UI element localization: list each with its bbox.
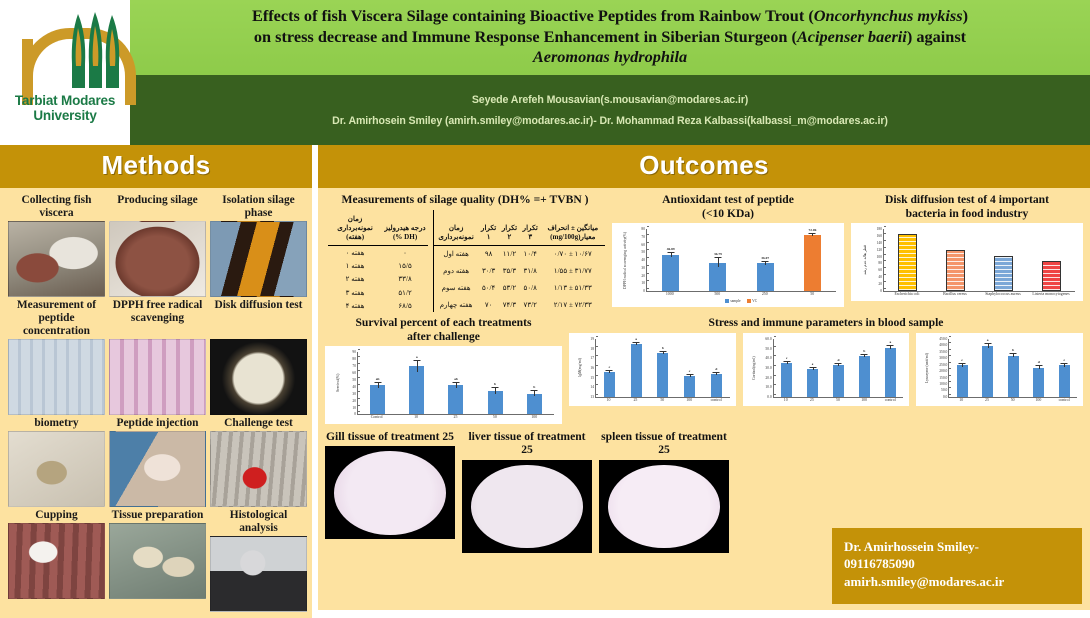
table-column-header: تکرار ۲ (499, 210, 520, 246)
y-axis-label: Lysozyme (unit/ml) (925, 339, 929, 397)
legend-swatch (747, 299, 751, 303)
bar-value-label: a (987, 338, 989, 342)
x-axis-tick: 10 (948, 398, 974, 403)
outcomes-row-2: Survival percent of each treatments afte… (325, 316, 1083, 424)
error-bar-cap (713, 372, 720, 373)
table-cell: ۵۰/۴ (478, 279, 499, 296)
error-bar-cap (452, 382, 459, 383)
chart-bar (488, 391, 503, 414)
y-axis-tick: 300.0 (939, 356, 949, 360)
error-bar (716, 373, 717, 375)
bar-value-label: a (889, 340, 891, 344)
error-bar (1064, 364, 1065, 368)
igm-parameter-plot-area: 13141516171819IgM(mg/ml)cabcd102550100co… (575, 339, 730, 403)
bar-value-label: e (812, 362, 814, 366)
table-row: ۶۸/۵هفته ۴ (328, 299, 428, 312)
tissue-prep-photo (109, 523, 206, 599)
logo-line-1: Tarbiat Modares (0, 94, 130, 109)
silage-tube-photo (210, 221, 307, 297)
error-bar (456, 383, 457, 389)
x-axis-tick: 500 (694, 292, 742, 297)
chart-bar-group (1042, 229, 1061, 291)
chart-bar-group: 36.79 (709, 229, 726, 291)
y-axis-label: Servival(%) (336, 352, 340, 414)
y-axis-tick: 160 (877, 234, 884, 238)
method-label: biometry (34, 417, 78, 430)
error-bar-cap (667, 252, 674, 253)
error-bar-cap (835, 363, 842, 364)
tissue-label: liver tissue of treatment 25 (462, 430, 592, 457)
table-cell: ۷۲/۳۳ ± ۲/۱۷ (541, 296, 605, 313)
antioxidant-title-line-2: (<10 KDa) (612, 207, 844, 221)
x-axis-tick: control (877, 398, 903, 403)
error-bar-cap (606, 370, 613, 371)
chart-bar (711, 374, 722, 397)
table-cell: ۱۰/۴ (520, 245, 541, 262)
error-bar (988, 344, 989, 347)
bar-value-label: c (689, 369, 691, 373)
chart-bar-group: a (631, 339, 642, 397)
tissue-panel: liver tissue of treatment 25 (462, 430, 592, 553)
spleen-histology-photo (599, 460, 729, 553)
error-bar (663, 352, 664, 354)
chart-bar (370, 385, 385, 414)
table-cell: هفته ۱ (328, 259, 382, 272)
y-axis-tick: 100.0 (939, 382, 949, 386)
logo-tulip-icon (64, 12, 126, 94)
chart-bar-group: d (711, 339, 722, 397)
x-axis-tick: 50 (825, 398, 851, 403)
table-cell: ۷۴/۳ (499, 296, 520, 313)
chart-bar (994, 256, 1013, 291)
y-axis-tick: 30.0 (765, 366, 773, 370)
outcomes-row-1: Measurements of silage quality (DH% =+ T… (325, 193, 1083, 312)
y-axis-tick: 140 (877, 241, 884, 245)
x-axis-tick: 100 (1026, 398, 1052, 403)
bar-value-label: ab (454, 377, 458, 381)
chart-bar-group: ab (448, 352, 463, 414)
stress-immune-panel: Stress and immune parameters in blood sa… (569, 316, 1083, 424)
error-bar (838, 364, 839, 367)
poster-header: Tarbiat Modares University Effects of fi… (0, 0, 1090, 145)
chart-bar (885, 348, 896, 397)
error-bar-cap (861, 354, 868, 355)
dpph-plate-photo (109, 339, 206, 415)
university-logo: Tarbiat Modares University (0, 0, 130, 145)
x-axis-tick: 25 (622, 398, 649, 403)
disk-diffusion-chart: 020406080100120140160180قطر هاله عدم رشد… (851, 223, 1083, 301)
chart-bar (527, 394, 542, 415)
bar-value-label: d (1038, 360, 1040, 364)
chart-bar-group: c (781, 339, 792, 397)
table-header-row: میانگین ± انحراف معیار(mg/100g)تکرار ۳تک… (434, 210, 606, 246)
table-column-header: درجه هیدرولیز (DH %) (382, 210, 428, 246)
x-axis-tick: 25 (974, 398, 1000, 403)
x-axis-tick: 250 (741, 292, 789, 297)
error-bar-cap (1035, 365, 1042, 366)
method-label: Measurement of peptide concentration (8, 299, 105, 338)
bar-value-label: c (1063, 358, 1065, 362)
error-bar-cap (633, 342, 640, 343)
error-bar-cap (783, 361, 790, 362)
poster-title: Effects of fish Viscera Silage containin… (130, 0, 1090, 75)
table-cell: ۵۰/۸ (520, 279, 541, 296)
y-axis-tick: 120 (877, 248, 884, 252)
y-axis-tick: 10.0 (765, 385, 773, 389)
method-label: Collecting fish viscera (8, 194, 105, 220)
error-bar-cap (686, 374, 693, 375)
chart-bar-group (898, 229, 917, 291)
table-cell: هفته دوم (434, 262, 479, 279)
error-bar-cap (492, 387, 499, 388)
table-cell: هفته ۴ (328, 299, 382, 312)
chart-bar-group: a (409, 352, 424, 414)
author-line-1: Seyede Arefeh Mousavian(s.mousavian@moda… (140, 90, 1080, 111)
table-row: ۳۱/۷۷ ± ۱/۵۵۳۱/۸۳۵/۳۳۰/۳هفته دوم (434, 262, 606, 279)
legend-label: sample (730, 299, 740, 303)
y-axis-tick: 350.0 (939, 350, 949, 354)
challenge-bench-photo (210, 431, 307, 507)
cortisol-parameter-plot-area: 0.010.020.030.040.050.060.0Cortisol(ng/m… (749, 339, 904, 403)
diskdiff-title-line-1: Disk diffusion test of 4 important (851, 193, 1083, 207)
y-axis-label: IgM(mg/ml) (578, 339, 582, 397)
methods-column: Methods Collecting fish viscera Producin… (0, 145, 312, 610)
chart-bar (757, 263, 774, 291)
logo-line-2: University (0, 109, 130, 124)
method-item: Measurement of peptide concentration (8, 299, 105, 415)
lysozyme-chart: 0.050.0100.0150.0200.0250.0300.0350.0400… (916, 333, 1083, 407)
bar-value-label: a (635, 337, 637, 341)
bar-value-label: b (863, 349, 865, 353)
survival-chart-panel: Survival percent of each treatments afte… (325, 316, 562, 424)
tissue-label: Gill tissue of treatment 25 (325, 430, 455, 444)
table-cell: هفته چهارم (434, 296, 479, 313)
y-axis-tick: 100 (877, 255, 884, 259)
legend-swatch (725, 299, 729, 303)
table-cell: ۷۰ (478, 296, 499, 313)
chart-bar (957, 365, 968, 397)
error-bar-cap (762, 261, 769, 262)
bar-value-label: b (662, 346, 664, 350)
x-axis-tick: 25 (436, 415, 475, 420)
table-cell: هفته سوم (434, 279, 479, 296)
table-row: ۵۱/۲هفته ۳ (328, 286, 428, 299)
y-axis-tick: 60.0 (765, 337, 773, 341)
bar-value-label: ab (376, 377, 380, 381)
chart-bar-group: a (982, 339, 993, 397)
error-bar (1039, 366, 1040, 369)
x-axis-tick: 50 (1000, 398, 1026, 403)
y-axis-label: قطر هاله عدم رشد (862, 229, 867, 291)
error-bar (534, 391, 535, 397)
chart-bar (657, 353, 668, 397)
table-cell: ۳۱/۸ (520, 262, 541, 279)
table-cell: هفته ۲ (328, 272, 382, 285)
chart-bar-group: b (527, 352, 542, 414)
x-axis-tick: control (1051, 398, 1077, 403)
bar-value-label: c (786, 356, 788, 360)
table-row: ۰هفته ۰ (328, 245, 428, 259)
x-axis-tick: Listeria monocytogenes (1027, 292, 1075, 297)
biometry-photo (8, 431, 105, 507)
chart-bar-group: b (488, 352, 503, 414)
method-item: Producing silage (109, 194, 206, 297)
x-axis-tick: 50 (649, 398, 676, 403)
y-axis-tick: 150.0 (939, 376, 949, 380)
stress-immune-title: Stress and immune parameters in blood sa… (569, 316, 1083, 330)
chart-bar (1042, 261, 1061, 291)
chart-bar-group (946, 229, 965, 291)
chart-bar (604, 372, 615, 397)
chart-bar (859, 356, 870, 397)
method-label: Cupping (35, 509, 77, 522)
chart-bar-group: d (833, 339, 844, 397)
survival-chart: 0102030405060708090Servival(%)abaabbbCon… (325, 346, 562, 424)
gill-histology-photo (325, 446, 455, 539)
chart-bar-group: 36.07 (757, 229, 774, 291)
table-header-row: درجه هیدرولیز (DH %)زمان نمونه‌برداری (ه… (328, 210, 428, 246)
methods-heading: Methods (0, 145, 312, 188)
error-bar (417, 361, 418, 372)
table-cell: ۵۱/۲ (382, 286, 428, 299)
y-axis-tick: 50.0 (765, 347, 773, 351)
table-cell: هفته اول (434, 245, 479, 262)
table-column-header: تکرار ۱ (478, 210, 499, 246)
table-column-header: زمان نمونه‌برداری (434, 210, 479, 246)
chart-bar (898, 234, 917, 291)
table-row: ۵۱/۳۳ ± ۱/۱۳۵۰/۸۵۳/۲۵۰/۴هفته سوم (434, 279, 606, 296)
error-bar-cap (1010, 353, 1017, 354)
bar-value-label: c (609, 365, 611, 369)
y-axis-tick: 50.0 (941, 388, 949, 392)
chart-bar-group: c (604, 339, 615, 397)
title-line-3: Aeromonas hydrophila (140, 47, 1080, 68)
liver-histology-photo (462, 460, 592, 553)
chart-bar (781, 363, 792, 397)
contact-line-3: amirh.smiley@modares.ac.ir (844, 573, 1070, 591)
x-axis-tick: 100 (676, 398, 703, 403)
error-bar (765, 262, 766, 265)
error-bar (864, 355, 865, 357)
fish-viscera-photo (8, 221, 105, 297)
survival-percent-plot-area: 0102030405060708090Servival(%)abaabbbCon… (333, 352, 554, 420)
y-axis-tick: 400.0 (939, 343, 949, 347)
chart-bar-group: 72.06 (804, 229, 821, 291)
x-axis-tick: control (703, 398, 730, 403)
error-bar-cap (959, 363, 966, 364)
chart-bar-group: c (1059, 339, 1070, 397)
silage-table-title: Measurements of silage quality (DH% =+ T… (325, 193, 605, 207)
survival-title-line-2: after challenge (325, 330, 562, 344)
silage-quality-table-panel: Measurements of silage quality (DH% =+ T… (325, 193, 605, 312)
antioxidant-chart: 01020304050607080DPPH radical scavenging… (612, 223, 844, 307)
method-item: Collecting fish viscera (8, 194, 105, 297)
chart-bar (804, 235, 821, 291)
chart-bar-group: b (1008, 339, 1019, 397)
method-label: Isolation silage phase (210, 194, 307, 220)
y-axis-tick: 180 (877, 227, 884, 231)
error-bar (378, 383, 379, 389)
method-item: biometry (8, 417, 105, 507)
outcomes-column: Outcomes Measurements of silage quality … (318, 145, 1090, 610)
error-bar (812, 234, 813, 236)
x-axis-tick: 10 (773, 398, 799, 403)
method-label: Histological analysis (210, 509, 307, 535)
chart-bar (946, 250, 965, 291)
authors-band: Seyede Arefeh Mousavian(s.mousavian@moda… (130, 75, 1090, 146)
chart-bar (1008, 356, 1019, 397)
chart-bar-group: 46.89 (662, 229, 679, 291)
method-item: DPPH free radical scavenging (109, 299, 206, 415)
logo-text: Tarbiat Modares University (0, 94, 130, 123)
chart-bar (709, 263, 726, 292)
lysozyme-parameter-plot-area: 0.050.0100.0150.0200.0250.0300.0350.0400… (922, 339, 1077, 403)
table-column-header: میانگین ± انحراف معیار(mg/100g) (541, 210, 605, 246)
error-bar (890, 346, 891, 349)
table-cell: هفته ۰ (328, 245, 382, 259)
table-cell: ۱۰/۶۷ ± ۰/۷۰ (541, 245, 605, 262)
error-bar-cap (714, 257, 721, 258)
diskdiff-title-line-2: bacteria in food industry (851, 207, 1083, 221)
error-bar (495, 388, 496, 395)
table-column-header: تکرار ۳ (520, 210, 541, 246)
error-bar (813, 368, 814, 370)
method-label: Tissue preparation (112, 509, 204, 522)
table-cell: ۱۵/۵ (382, 259, 428, 272)
chart-bar (807, 369, 818, 397)
method-label: Challenge test (224, 417, 293, 430)
y-axis-label: DPPH radical scavenging activity(%) (623, 229, 627, 291)
contact-box: Dr. Amirhossein Smiley- 09116785090 amir… (832, 528, 1082, 605)
table-cell: ۹۸ (478, 245, 499, 262)
x-axis-tick: Staphylococcus aureus (979, 292, 1027, 297)
title-line-1: Effects of fish Viscera Silage containin… (140, 6, 1080, 27)
table-cell: ۵۳/۲ (499, 279, 520, 296)
y-axis-tick: 200.0 (939, 369, 949, 373)
x-axis-tick: Control (357, 415, 396, 420)
y-axis-tick: 450.0 (939, 337, 949, 341)
table-cell: ۳۱/۷۷ ± ۱/۵۵ (541, 262, 605, 279)
disk-diffusion-chart-panel: Disk diffusion test of 4 important bacte… (851, 193, 1083, 312)
bar-value-label: b (1012, 348, 1014, 352)
bar-value-label: b (533, 385, 535, 389)
silage-main-table: میانگین ± انحراف معیار(mg/100g)تکرار ۳تک… (433, 210, 605, 313)
method-label: DPPH free radical scavenging (109, 299, 206, 338)
chart-bar (631, 344, 642, 397)
microplate-photo (8, 339, 105, 415)
poster: Tarbiat Modares University Effects of fi… (0, 0, 1090, 610)
chart-bar-group: c (684, 339, 695, 397)
bar-value-label: 36.79 (714, 252, 722, 256)
tissue-panel: Gill tissue of treatment 25 (325, 430, 455, 553)
table-cell: ۰ (382, 245, 428, 259)
chart-bar (409, 366, 424, 414)
method-label: Producing silage (117, 194, 197, 220)
x-axis-tick: 50 (789, 292, 837, 297)
table-row: ۷۲/۳۳ ± ۲/۱۷۷۳/۲۷۴/۳۷۰هفته چهارم (434, 296, 606, 313)
error-bar-cap (1061, 363, 1068, 364)
chart-bar (1059, 365, 1070, 397)
silage-side-table: درجه هیدرولیز (DH %)زمان نمونه‌برداری (ه… (328, 210, 428, 313)
bar-value-label: b (494, 382, 496, 386)
method-item: Isolation silage phase (210, 194, 307, 297)
error-bar-cap (659, 351, 666, 352)
method-label: Peptide injection (117, 417, 199, 430)
y-axis-tick: 250.0 (939, 363, 949, 367)
antioxidant-title-line-1: Antioxidant test of peptide (612, 193, 844, 207)
table-cell: ۶۸/۵ (382, 299, 428, 312)
tissue-panel: spleen tissue of treatment 25 (599, 430, 729, 553)
error-bar (609, 371, 610, 373)
error-bar (1013, 354, 1014, 358)
cortisol-chart: 0.010.020.030.040.050.060.0Cortisol(ng/m… (743, 333, 910, 407)
error-bar-cap (984, 343, 991, 344)
chart-bar-group: d (1033, 339, 1044, 397)
table-cell: ۵۱/۳۳ ± ۱/۱۳ (541, 279, 605, 296)
methods-grid: Collecting fish viscera Producing silage… (8, 194, 304, 612)
error-bar (787, 362, 788, 364)
method-item: Cupping (8, 509, 105, 612)
y-axis-tick: 20.0 (765, 376, 773, 380)
injection-photo (109, 431, 206, 507)
x-axis-tick: 1000 (646, 292, 694, 297)
igm-chart: 13141516171819IgM(mg/ml)cabcd102550100co… (569, 333, 736, 407)
title-line-2: on stress decrease and Immune Response E… (140, 27, 1080, 48)
petri-dish-photo (210, 339, 307, 415)
chart-legend: sampleVC (646, 299, 836, 303)
method-item: Tissue preparation (109, 509, 206, 612)
chart-bar-group (994, 229, 1013, 291)
error-bar-cap (531, 390, 538, 391)
error-bar-cap (809, 367, 816, 368)
error-bar (962, 364, 963, 367)
bar-value-label: 36.07 (761, 256, 769, 260)
bar-value-label: d (715, 367, 717, 371)
error-bar-cap (809, 233, 816, 234)
bar-value-label: 46.89 (667, 247, 675, 251)
chart-bar (684, 376, 695, 397)
method-item: Histological analysis (210, 509, 307, 612)
error-bar-cap (887, 345, 894, 346)
chart-bar-group: c (957, 339, 968, 397)
error-bar (718, 258, 719, 267)
table-column-header: زمان نمونه‌برداری (هفته) (328, 210, 382, 246)
x-axis-tick: 10 (595, 398, 622, 403)
error-bar (690, 375, 691, 377)
y-axis-label: Cortisol(ng/ml) (752, 339, 756, 397)
legend-label: VC (752, 299, 757, 303)
method-label: Disk diffusion test (215, 299, 303, 338)
chart-bar-group: a (885, 339, 896, 397)
x-axis-tick: 10 (396, 415, 435, 420)
contact-line-1: Dr. Amirhossein Smiley- (844, 538, 1070, 556)
chart-bar (662, 255, 679, 291)
error-bar (636, 343, 637, 345)
method-item: Challenge test (210, 417, 307, 507)
x-axis-tick: 100 (851, 398, 877, 403)
chart-bar-group: e (807, 339, 818, 397)
legend-item: sample (725, 299, 741, 303)
silage-bucket-photo (109, 221, 206, 297)
table-cell: ۳۰/۳ (478, 262, 499, 279)
error-bar-cap (413, 360, 420, 361)
x-axis-tick: 100 (515, 415, 554, 420)
x-axis-tick: 50 (475, 415, 514, 420)
x-axis-tick: 25 (799, 398, 825, 403)
table-cell: ۳۵/۳ (499, 262, 520, 279)
author-line-2: Dr. Amirhosein Smiley (amirh.smiley@moda… (140, 111, 1080, 132)
antioxidant-chart-panel: Antioxidant test of peptide (<10 KDa) 01… (612, 193, 844, 312)
